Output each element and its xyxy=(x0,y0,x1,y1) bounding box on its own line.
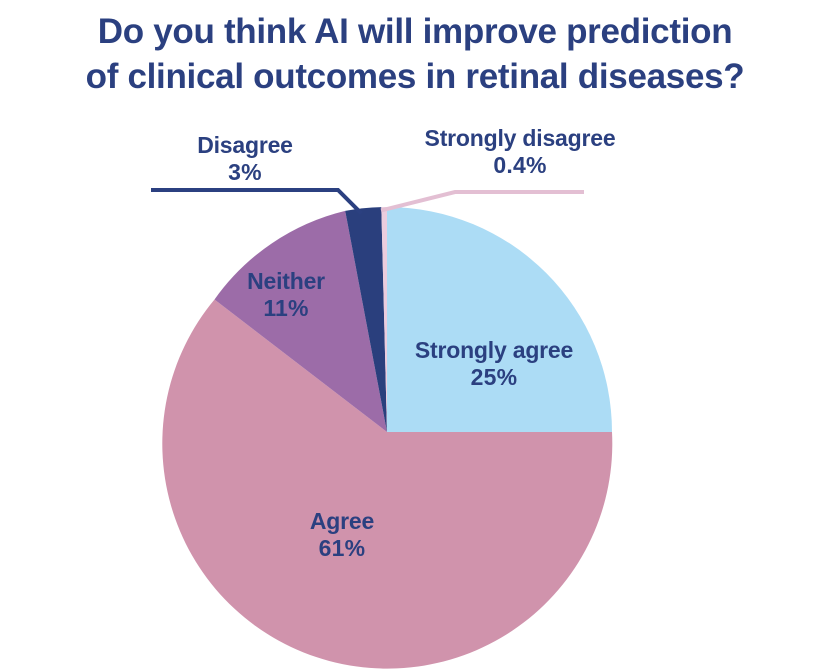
pie-chart-figure: Do you think AI will improve prediction … xyxy=(0,0,830,670)
slice-label-neither-name: Neither xyxy=(216,268,356,295)
callout-label-disagree: Disagree 3% xyxy=(110,132,380,185)
callout-label-strongly-disagree-value: 0.4% xyxy=(385,152,655,179)
pie-slice-strongly-agree[interactable] xyxy=(387,207,612,432)
slice-label-neither-value: 11% xyxy=(216,295,356,322)
callout-label-strongly-disagree-name: Strongly disagree xyxy=(385,125,655,152)
slice-label-strongly-agree-name: Strongly agree xyxy=(380,337,608,364)
slice-label-strongly-agree-value: 25% xyxy=(380,364,608,391)
slice-label-neither: Neither 11% xyxy=(216,268,356,321)
callout-label-disagree-value: 3% xyxy=(110,159,380,186)
callout-label-strongly-disagree: Strongly disagree 0.4% xyxy=(385,125,655,178)
leader-line-strongly-disagree xyxy=(383,192,582,210)
slice-label-agree-value: 61% xyxy=(272,535,412,562)
slice-label-strongly-agree: Strongly agree 25% xyxy=(380,337,608,390)
callout-label-disagree-name: Disagree xyxy=(110,132,380,159)
pie-chart-svg xyxy=(0,0,830,670)
slice-label-agree: Agree 61% xyxy=(272,508,412,561)
leader-line-disagree xyxy=(153,190,360,212)
slice-label-agree-name: Agree xyxy=(272,508,412,535)
